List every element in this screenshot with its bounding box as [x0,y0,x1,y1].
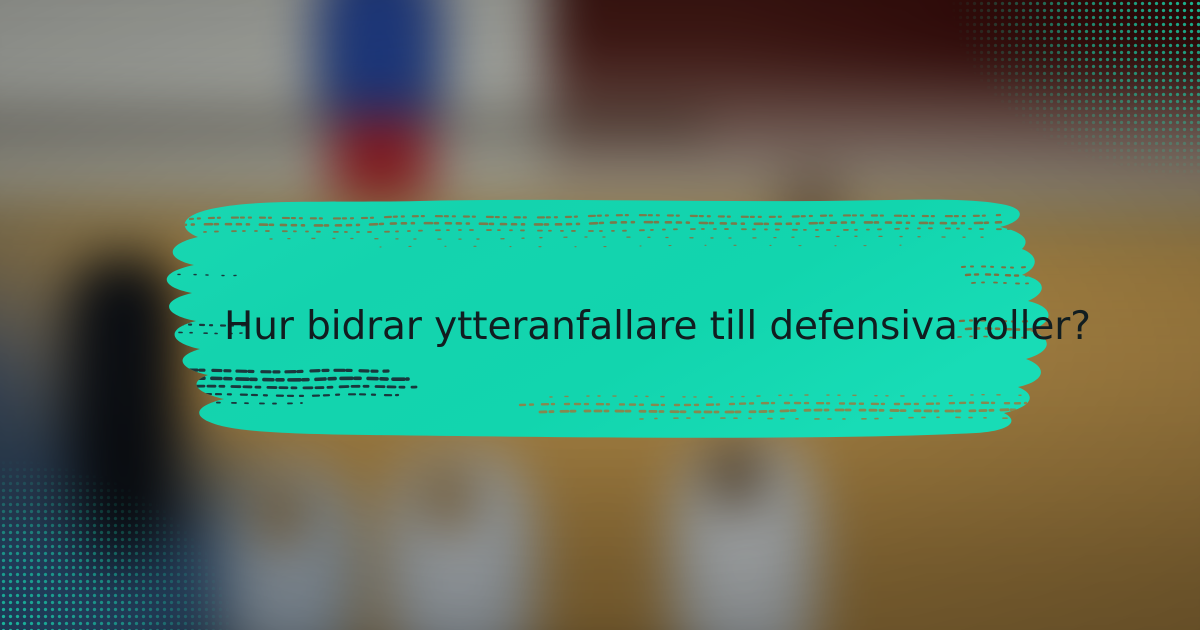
social-share-card: Hur bidrar ytteranfallare till defensiva… [0,0,1200,630]
headline-banner: Hur bidrar ytteranfallare till defensiva… [120,175,1070,450]
page-title: Hur bidrar ytteranfallare till defensiva… [224,303,1024,351]
